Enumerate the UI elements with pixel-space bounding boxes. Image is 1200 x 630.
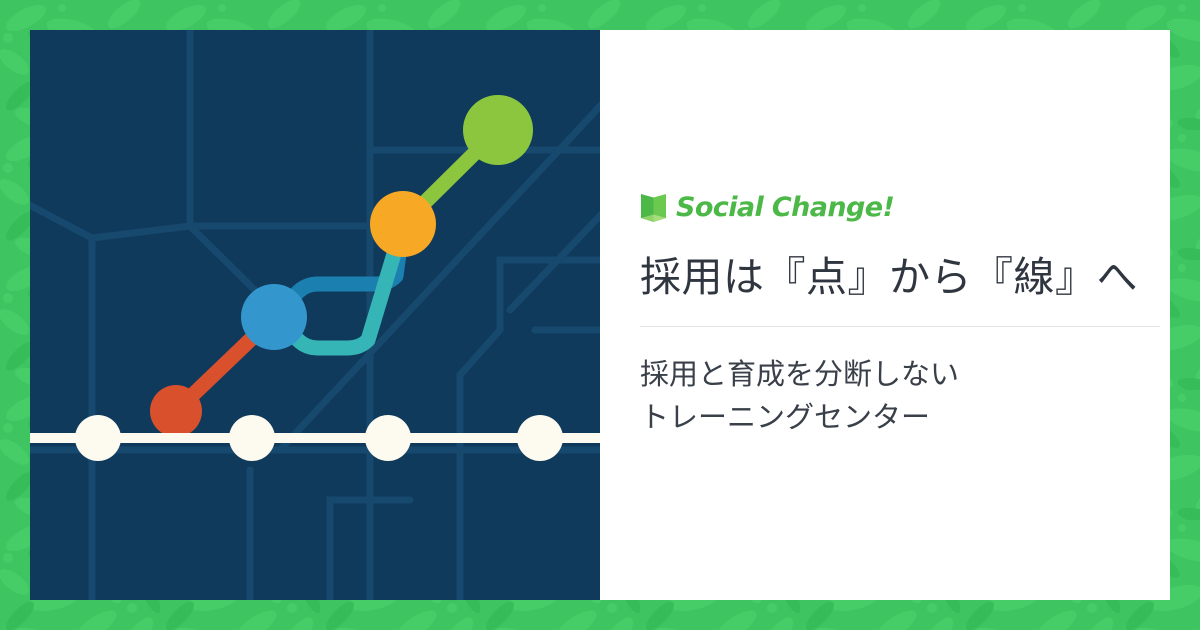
station-3 [365,415,411,461]
page-subtitle-line-1: 採用と育成を分断しない [640,353,1170,396]
page-title: 採用は『点』から『線』へ [640,251,1170,304]
content-card: Social Change! 採用は『点』から『線』へ 採用と育成を分断しない … [30,30,1170,600]
brand-lockup: Social Change! [640,191,1170,225]
station-4 [517,415,563,461]
divider [640,326,1160,327]
bookmark-flag-icon [640,193,667,223]
page-subtitle-line-2: トレーニングセンター [640,396,1170,439]
node-red [150,385,202,437]
station-2 [229,415,275,461]
station-1 [75,415,121,461]
text-panel: Social Change! 採用は『点』から『線』へ 採用と育成を分断しない … [600,30,1170,600]
node-green [463,95,533,165]
brand-name: Social Change! [676,192,894,223]
og-image-root: Social Change! 採用は『点』から『線』へ 採用と育成を分断しない … [0,0,1200,630]
illustration-panel [30,30,600,600]
node-yellow [370,191,436,257]
page-subtitle: 採用と育成を分断しない トレーニングセンター [640,353,1170,439]
node-blue [241,284,307,350]
